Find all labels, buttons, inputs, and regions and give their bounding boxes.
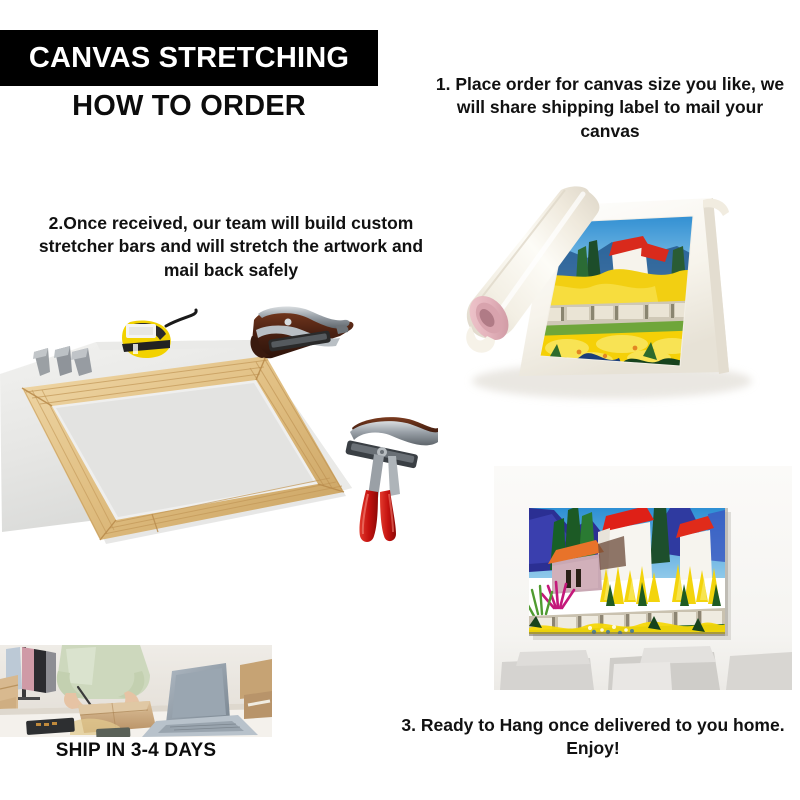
page-title: CANVAS STRETCHING	[29, 42, 349, 75]
rolled-canvas-photo	[437, 176, 793, 432]
packing-illustration	[0, 645, 272, 737]
wall-art-illustration	[494, 466, 792, 690]
wall-art-photo	[494, 466, 792, 690]
step-2-text: 2.Once received, our team will build cus…	[36, 212, 426, 282]
step-1-text: 1. Place order for canvas size you like,…	[430, 73, 790, 143]
stretcher-bars-photo	[0, 300, 440, 622]
page-subtitle: HOW TO ORDER	[0, 90, 378, 123]
canvas-pliers	[345, 417, 438, 542]
title-banner: CANVAS STRETCHING	[0, 30, 378, 86]
packing-shipping-photo	[0, 645, 272, 737]
ship-time-caption: SHIP IN 3-4 DAYS	[0, 740, 272, 762]
boxes-right	[240, 659, 272, 719]
corner-braces	[33, 346, 92, 376]
staple-gun-top	[250, 307, 353, 359]
infographic-page: CANVAS STRETCHING HOW TO ORDER 1. Place …	[0, 0, 800, 800]
rolled-canvas-illustration	[437, 176, 793, 432]
step-3-text: 3. Ready to Hang once delivered to you h…	[392, 714, 794, 761]
stretcher-bars-illustration	[0, 300, 440, 622]
